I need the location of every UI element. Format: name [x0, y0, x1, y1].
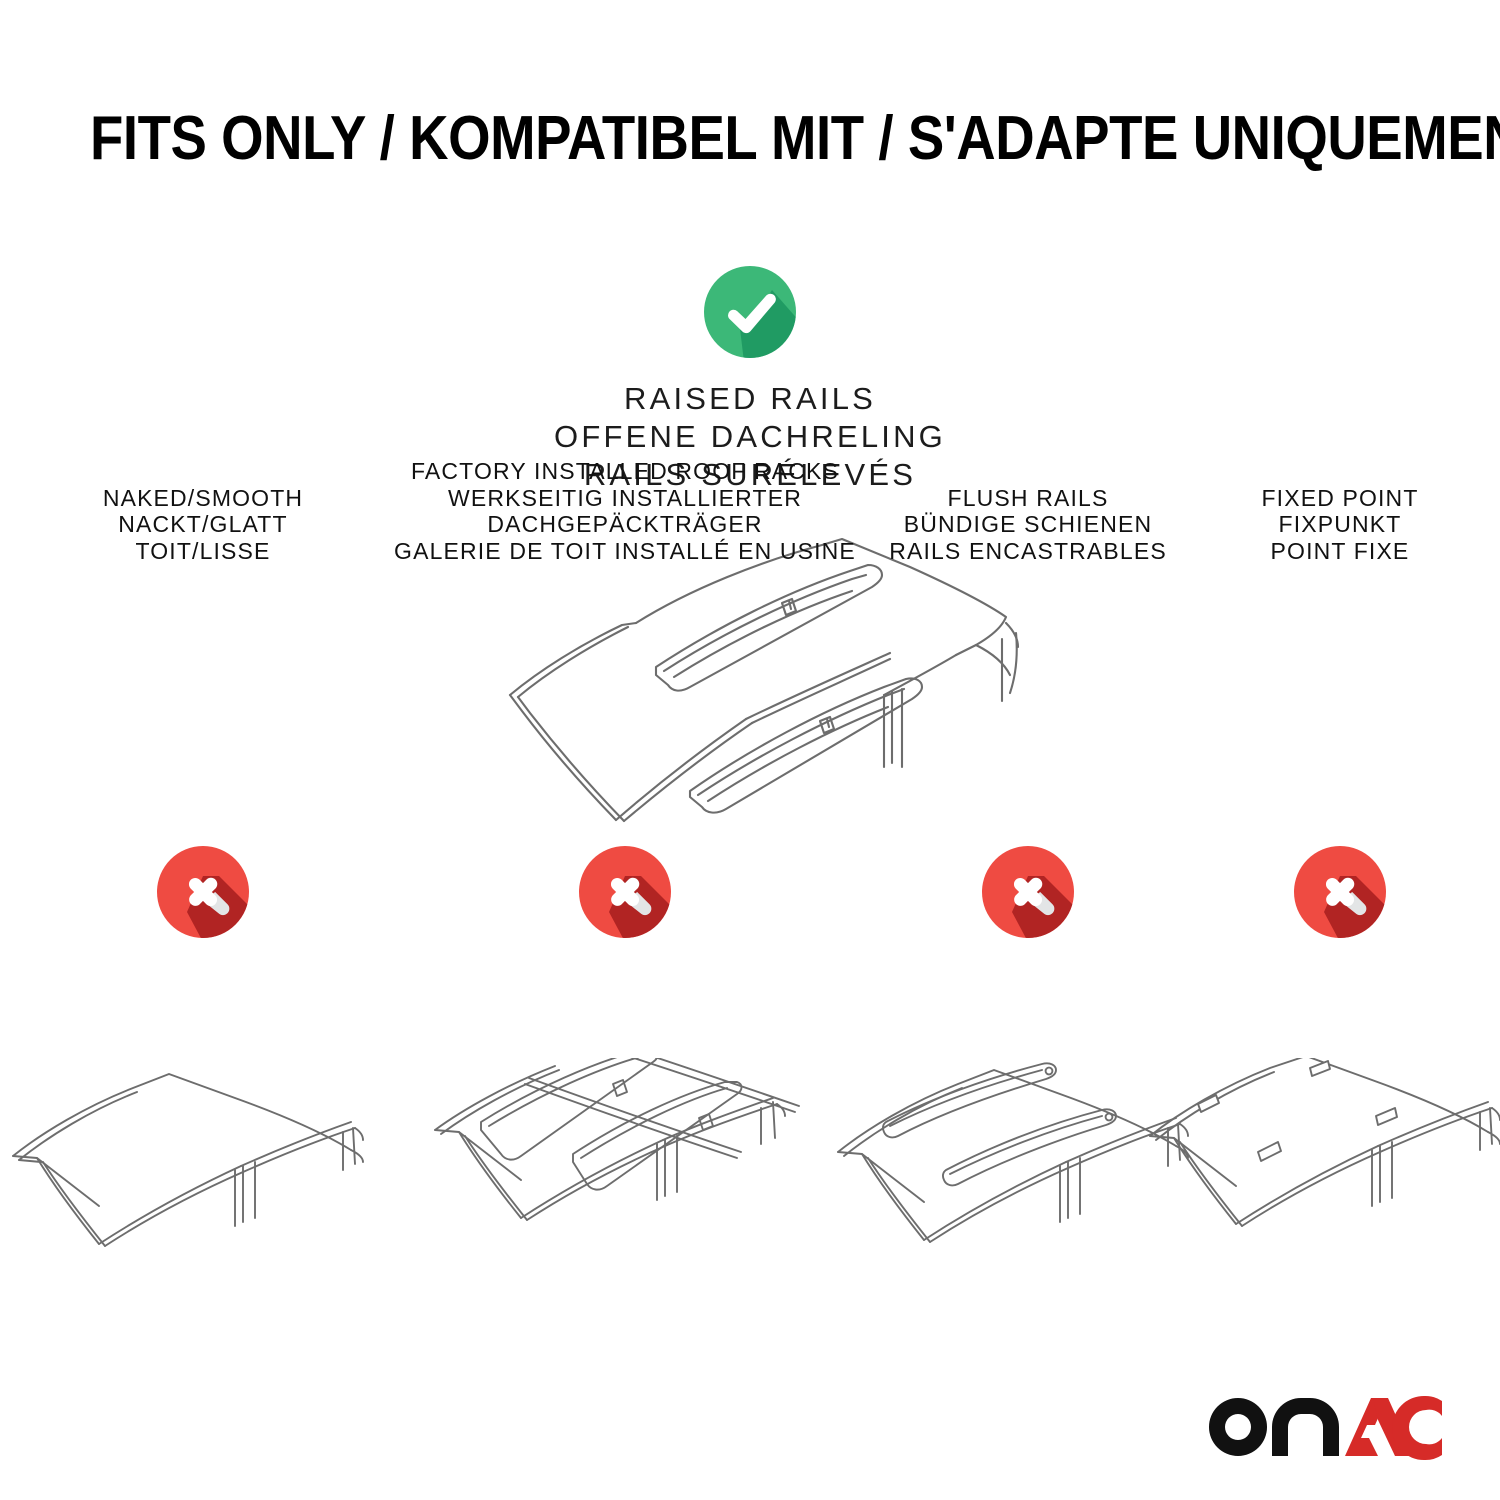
omac-logo-letter-m	[1272, 1398, 1339, 1456]
car-roof-fixed-point-illustration	[1140, 1058, 1500, 1298]
incompatible-item-factory-installed-roof-racks: FACTORY INSTALLED ROOF RACKS WERKSEITIG …	[395, 846, 855, 938]
incompatible-item-naked-smooth: NAKED/SMOOTH NACKT/GLATT TOIT/LISSE	[0, 846, 423, 938]
incompatible-section: NAKED/SMOOTH NACKT/GLATT TOIT/LISSE	[0, 846, 1500, 1326]
car-roof-bare-illustration	[3, 1058, 403, 1298]
check-circle-icon	[704, 266, 796, 358]
label-line-1: FIXED POINT	[1100, 485, 1500, 512]
x-circle-icon	[982, 846, 1074, 938]
fitment-infographic: FITS ONLY / KOMPATIBEL MIT / S'ADAPTE UN…	[0, 0, 1500, 1500]
car-roof-factory-racks-illustration	[425, 1058, 825, 1298]
omac-logo	[1206, 1390, 1442, 1464]
incompatible-labels: FIXED POINT FIXPUNKT POINT FIXE	[1100, 485, 1500, 565]
label-line-2: FIXPUNKT	[1100, 511, 1500, 538]
compatible-label-line-2: OFFENE DACHRELING	[0, 418, 1500, 456]
page-title: FITS ONLY / KOMPATIBEL MIT / S'ADAPTE UN…	[90, 104, 1410, 174]
incompatible-item-fixed-point: FIXED POINT FIXPUNKT POINT FIXE	[1110, 846, 1500, 938]
label-line-2: NACKT/GLATT	[0, 511, 443, 538]
label-line-1: NAKED/SMOOTH	[0, 485, 443, 512]
incompatible-labels: NAKED/SMOOTH NACKT/GLATT TOIT/LISSE	[0, 485, 443, 565]
x-circle-icon	[157, 846, 249, 938]
label-line-3: TOIT/LISSE	[0, 538, 443, 565]
label-line-3: POINT FIXE	[1100, 538, 1500, 565]
omac-logo-letter-o	[1209, 1398, 1267, 1456]
compatible-label-line-1: RAISED RAILS	[0, 380, 1500, 418]
label-line-1: FACTORY INSTALLED ROOF RACKS	[385, 458, 865, 485]
x-circle-icon	[1294, 846, 1386, 938]
x-circle-icon	[579, 846, 671, 938]
